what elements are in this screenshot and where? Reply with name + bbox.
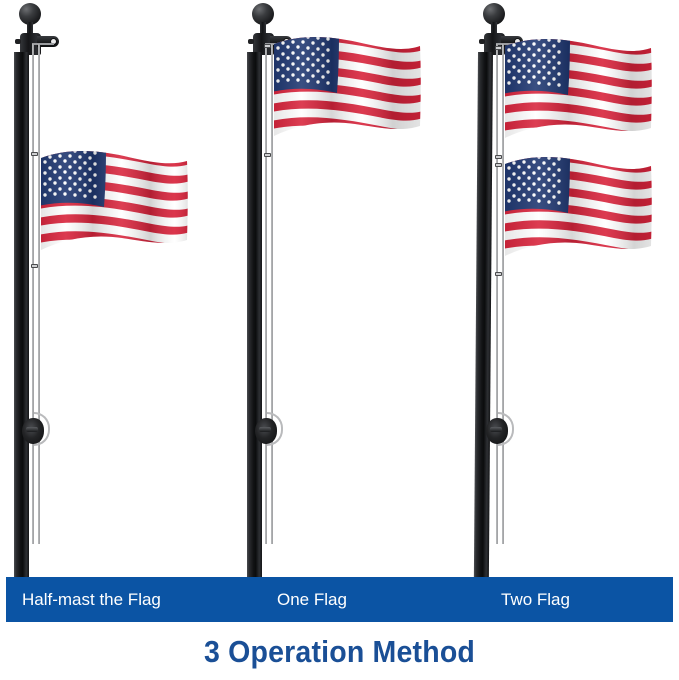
- truck-side-nub: [248, 39, 254, 44]
- cleat-rope-loop: [498, 412, 514, 446]
- panel-two-flag: [453, 0, 679, 600]
- flag-clip-lower-bottom: [495, 272, 502, 276]
- page-title: 3 Operation Method: [27, 634, 652, 670]
- cleat-rope-loop: [34, 412, 50, 446]
- flagpole-assembly: [12, 0, 72, 600]
- caption-one-flag: One Flag: [277, 577, 347, 622]
- flag-clip-bottom: [264, 153, 271, 157]
- us-flag: [271, 30, 423, 148]
- flag-clip-top: [31, 152, 38, 156]
- cleat-rope-loop: [267, 412, 283, 446]
- flag-clip-bottom: [31, 264, 38, 268]
- halyard-rope-left: [496, 44, 498, 544]
- halyard-rope-right: [38, 44, 40, 544]
- panel-one-flag: [226, 0, 452, 600]
- halyard-rope-left: [32, 44, 34, 544]
- us-flag-upper: [502, 32, 654, 150]
- flag-clip-upper-top: [495, 46, 502, 50]
- panel-half-mast: [0, 0, 226, 600]
- truck-side-nub: [479, 39, 485, 44]
- flag-clip-upper-bottom: [495, 155, 502, 159]
- us-flag-lower: [502, 150, 654, 268]
- truck-side-nub: [15, 39, 21, 44]
- caption-half-mast: Half-mast the Flag: [22, 577, 161, 622]
- pole-shaft: [247, 52, 262, 600]
- caption-two-flag: Two Flag: [501, 577, 570, 622]
- flag-clip-top: [264, 44, 271, 48]
- us-flag: [38, 146, 190, 264]
- halyard-rope-left: [265, 44, 267, 544]
- pole-shaft: [14, 52, 29, 600]
- infographic-root: Half-mast the Flag One Flag Two Flag 3 O…: [0, 0, 679, 680]
- pole-shaft: [474, 52, 493, 600]
- halyard-top-span: [32, 43, 54, 45]
- caption-banner: Half-mast the Flag One Flag Two Flag: [6, 577, 673, 622]
- flag-clip-lower-top: [495, 163, 502, 167]
